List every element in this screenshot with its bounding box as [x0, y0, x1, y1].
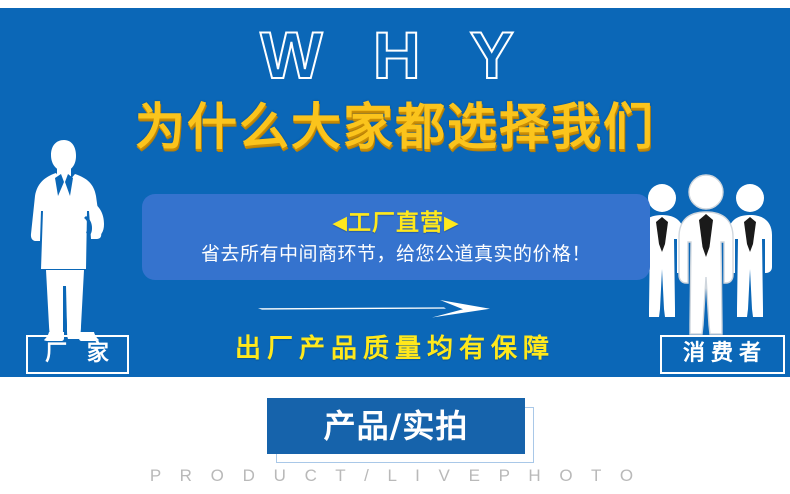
- right-arrow-icon: [258, 300, 490, 318]
- consumer-group-silhouette-icon: [632, 170, 780, 335]
- left-triangle-icon: ◀: [332, 212, 348, 234]
- badge-manufacturer: 厂 家: [26, 335, 129, 374]
- badge-consumer: 消费者: [660, 335, 785, 374]
- businessman-silhouette-icon: [20, 136, 130, 341]
- blue-banner: W H Y 为什么大家都选择我们: [0, 8, 790, 377]
- why-outline-heading: W H Y: [0, 22, 790, 88]
- product-section: 产品/实拍 P R O D U C T / L I V E P H O T O: [0, 377, 790, 494]
- product-heading-group: 产品/实拍: [267, 398, 527, 456]
- page-title: 为什么大家都选择我们: [0, 100, 790, 154]
- factory-direct-title-text: 工厂直营: [348, 210, 444, 236]
- promo-banner-page: W H Y 为什么大家都选择我们: [0, 0, 790, 494]
- factory-direct-title: ◀工厂直营▶: [332, 208, 459, 238]
- factory-direct-subtitle: 省去所有中间商环节，给您公道真实的价格！: [201, 241, 591, 267]
- right-triangle-icon: ▶: [444, 212, 460, 234]
- factory-direct-card: ◀工厂直营▶ 省去所有中间商环节，给您公道真实的价格！: [142, 194, 650, 280]
- product-heading-label: 产品/实拍: [324, 408, 469, 444]
- product-heading-box: 产品/实拍: [267, 398, 525, 454]
- product-heading-caption: P R O D U C T / L I V E P H O T O: [0, 465, 790, 487]
